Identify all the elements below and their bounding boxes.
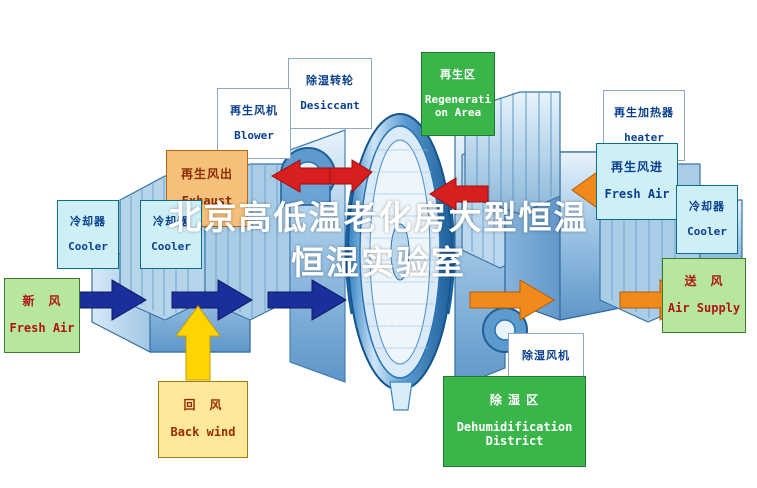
label-air-supply: 送 风 Air Supply	[662, 258, 746, 333]
label-cooler-right-en: Cooler	[679, 226, 735, 239]
label-regeneration-area-en: Regenerati on Area	[424, 94, 492, 119]
label-fresh-air-cn: 新 风	[7, 295, 77, 309]
label-back-wind: 回 风 Back wind	[158, 381, 248, 458]
label-regen-fresh-air-en: Fresh Air	[599, 188, 675, 202]
label-regen-blower-cn: 再生风机	[220, 105, 288, 118]
diagram-canvas: XTG 除湿转轮 Desiccant 再生区 Regenerati on Are…	[0, 0, 757, 488]
label-dehumidification-district: 除 湿 区 Dehumidification District	[443, 376, 586, 467]
label-regen-blower: 再生风机 Blower	[217, 88, 291, 159]
label-back-wind-cn: 回 风	[161, 399, 245, 413]
label-cooler-left-en: Cooler	[60, 241, 116, 254]
label-cooler-left: 冷却器 Cooler	[57, 200, 119, 269]
label-desiccant-en: Desiccant	[291, 100, 369, 113]
label-air-supply-cn: 送 风	[665, 275, 743, 289]
label-cooler-left-2-en: Cooler	[143, 241, 199, 254]
label-desiccant: 除湿转轮 Desiccant	[288, 58, 372, 129]
label-regen-fresh-air-cn: 再生风进	[599, 161, 675, 175]
label-cooler-left-cn: 冷却器	[60, 216, 116, 229]
label-regen-fresh-air: 再生风进 Fresh Air	[596, 143, 678, 220]
label-cooler-right-cn: 冷却器	[679, 201, 735, 214]
label-fresh-air-en: Fresh Air	[7, 322, 77, 336]
label-air-supply-en: Air Supply	[665, 302, 743, 316]
label-regen-heater-cn: 再生加热器	[606, 107, 682, 120]
label-cooler-right: 冷却器 Cooler	[676, 185, 738, 254]
label-regen-exhaust-cn: 再生风出	[169, 168, 245, 182]
label-back-wind-en: Back wind	[161, 426, 245, 440]
label-dehumidification-district-cn: 除 湿 区	[446, 394, 583, 408]
label-regeneration-area-cn: 再生区	[424, 69, 492, 82]
label-dehumidification-district-en: Dehumidification District	[446, 421, 583, 449]
label-cooler-left-2: 冷却器 Cooler	[140, 200, 202, 269]
label-regen-blower-en: Blower	[220, 130, 288, 143]
label-cooler-left-2-cn: 冷却器	[143, 216, 199, 229]
label-regeneration-area: 再生区 Regenerati on Area	[421, 52, 495, 136]
label-desiccant-cn: 除湿转轮	[291, 75, 369, 88]
label-fresh-air: 新 风 Fresh Air	[4, 278, 80, 353]
label-dehum-blower-cn: 除湿风机	[511, 350, 581, 363]
